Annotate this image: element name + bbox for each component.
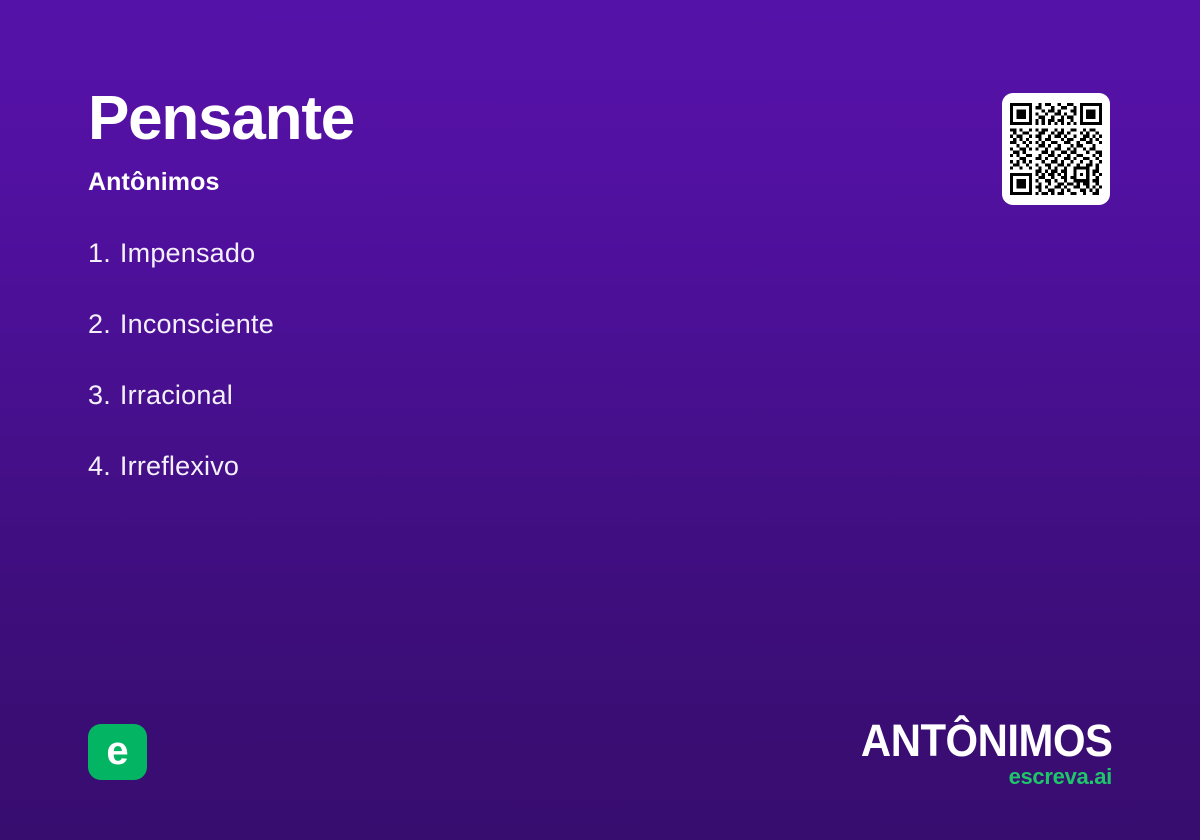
list-item-index: 3. — [88, 380, 111, 410]
qr-code-icon — [1010, 101, 1102, 197]
list-item-index: 4. — [88, 451, 111, 481]
list-item-label: Inconsciente — [120, 309, 274, 339]
antonym-card: Pensante Antônimos 1.Impensado 2.Inconsc… — [0, 0, 1200, 840]
qr-code[interactable] — [1002, 93, 1110, 205]
list-item-label: Irracional — [120, 380, 233, 410]
list-item: 1.Impensado — [88, 238, 848, 270]
card-category-label: Antônimos — [88, 168, 788, 197]
list-item: 3.Irracional — [88, 380, 848, 412]
page-title: Pensante — [88, 88, 788, 150]
list-item-index: 1. — [88, 238, 111, 268]
list-item-label: Impensado — [120, 238, 255, 268]
antonimos-wordmark: ANTÔNIMOS escreva.ai — [842, 718, 1113, 788]
escreva-logo-badge[interactable]: e — [88, 724, 147, 780]
card-header: Pensante Antônimos — [88, 88, 788, 197]
antonym-list: 1.Impensado 2.Inconsciente 3.Irracional … — [88, 238, 848, 482]
brand-badge-letter: e — [106, 731, 128, 771]
list-item-label: Irreflexivo — [120, 451, 239, 481]
list-item-index: 2. — [88, 309, 111, 339]
list-item: 2.Inconsciente — [88, 309, 848, 341]
wordmark-sub-text: escreva.ai — [842, 766, 1113, 788]
list-item: 4.Irreflexivo — [88, 451, 848, 483]
wordmark-main-text: ANTÔNIMOS — [860, 718, 1112, 763]
